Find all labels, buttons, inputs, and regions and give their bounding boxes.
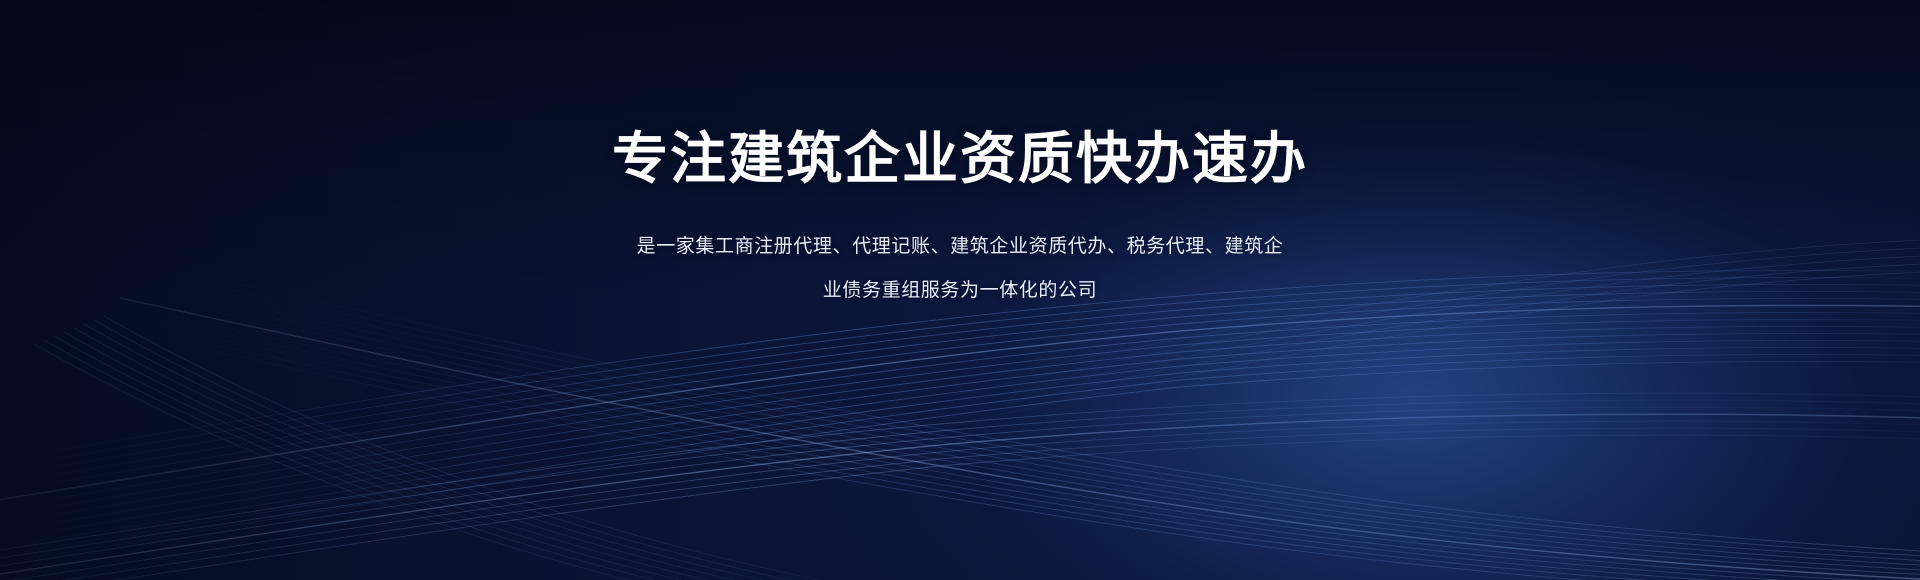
hero-banner: 专注建筑企业资质快办速办 是一家集工商注册代理、代理记账、建筑企业资质代办、税务…	[0, 0, 1920, 580]
banner-headline: 专注建筑企业资质快办速办	[612, 128, 1308, 191]
banner-subtitle-line-2: 业债务重组服务为一体化的公司	[515, 269, 1405, 313]
banner-subtitle: 是一家集工商注册代理、代理记账、建筑企业资质代办、税务代理、建筑企 业债务重组服…	[515, 225, 1405, 313]
banner-content: 专注建筑企业资质快办速办 是一家集工商注册代理、代理记账、建筑企业资质代办、税务…	[0, 0, 1920, 580]
banner-subtitle-line-1: 是一家集工商注册代理、代理记账、建筑企业资质代办、税务代理、建筑企	[515, 225, 1405, 269]
